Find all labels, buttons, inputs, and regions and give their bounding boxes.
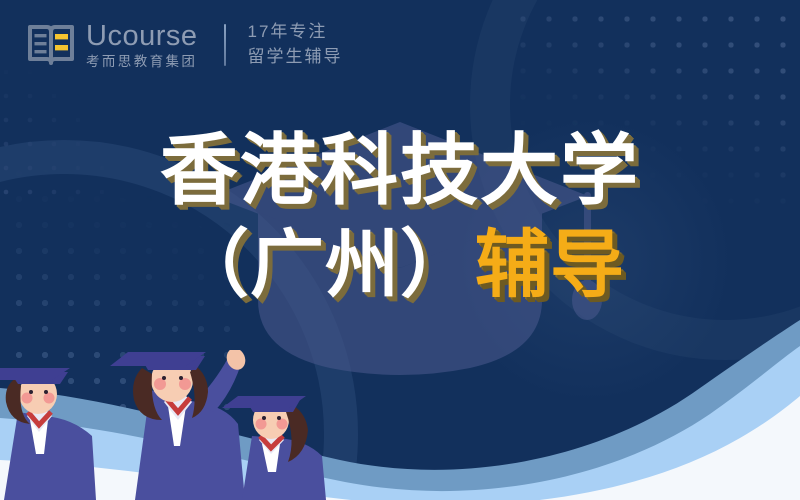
promo-banner: Ucourse 考而思教育集团 17年专注 留学生辅导 香港科技大学 （广州）辅…: [0, 0, 800, 500]
student-left: [0, 368, 96, 500]
brand-tagline: 17年专注 留学生辅导: [248, 20, 343, 69]
title-line-2-city: （广州）: [175, 222, 475, 308]
graduating-students-illustration: [0, 350, 330, 500]
decorative-arc: [470, 0, 800, 360]
brand-lockup: Ucourse 考而思教育集团: [86, 22, 198, 69]
brand-name-en: Ucourse: [86, 22, 198, 51]
tagline-line-1: 17年专注: [248, 20, 343, 45]
title-line-2: （广州）辅导: [0, 228, 800, 302]
title-block: 香港科技大学 （广州）辅导: [0, 132, 800, 302]
student-center: [110, 350, 248, 500]
header-divider: [224, 24, 226, 66]
title-line-1: 香港科技大学: [0, 132, 800, 210]
title-line-2-service: 辅导: [475, 222, 625, 308]
brand-name-cn: 考而思教育集团: [86, 55, 198, 69]
brand-header: Ucourse 考而思教育集团 17年专注 留学生辅导: [26, 14, 343, 76]
halftone-dots-top-left: [0, 60, 110, 210]
open-book-icon: [26, 21, 76, 69]
tagline-line-2: 留学生辅导: [248, 45, 343, 70]
halftone-dots-top-right: [510, 0, 800, 210]
